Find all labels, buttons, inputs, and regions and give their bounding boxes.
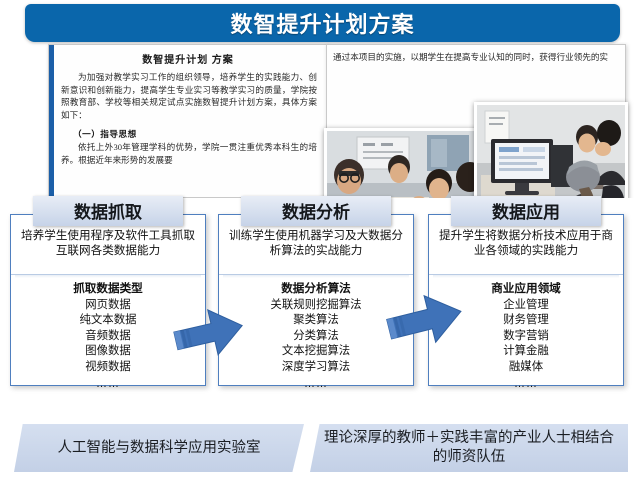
list-item: 音频数据 bbox=[17, 329, 199, 344]
list-item: 深度学习算法 bbox=[225, 360, 407, 375]
pillar-tab-label[interactable]: 数据分析 bbox=[241, 196, 391, 226]
pillar-separator bbox=[15, 275, 201, 278]
list-item: 文本挖掘算法 bbox=[225, 344, 407, 359]
slide-title-banner: 数智提升计划方案 bbox=[25, 4, 620, 42]
list-item: 关联规则挖掘算法 bbox=[225, 298, 407, 313]
page-title: 数智提升计划方案 bbox=[230, 7, 414, 39]
footer-banner-faculty-label: 理论深厚的教师＋实践丰富的产业人士相结合的师资队伍 bbox=[310, 429, 628, 467]
pillar-column-data-analysis[interactable]: 训练学生使用机器学习及大数据分析算法的实战能力 数据分析算法 关联规则挖掘算法 … bbox=[218, 214, 414, 386]
list-item: 视频数据 bbox=[17, 360, 199, 375]
document-page-left: 数智提升计划 方案 为加强对教学实习工作的组织领导，培养学生的实践能力、创新意识… bbox=[48, 44, 328, 198]
pillar-list-heading: 抓取数据类型 bbox=[17, 281, 199, 297]
flow-arrow-1-icon bbox=[173, 302, 247, 369]
flow-arrow-2-icon bbox=[386, 288, 466, 357]
document-screenshot-area: 数智提升计划 方案 为加强对教学实习工作的组织领导，培养学生的实践能力、创新意识… bbox=[0, 42, 636, 198]
document-heading: 数智提升计划 方案 bbox=[49, 51, 327, 66]
list-item: 融媒体 bbox=[435, 360, 617, 375]
list-item: 纯文本数据 bbox=[17, 313, 199, 328]
arrow-right-icon bbox=[173, 302, 247, 364]
pillar-separator bbox=[433, 275, 619, 278]
document-right-paragraph: 通过本项目的实施，以期学生在提高专业认知的同时，获得行业领先的实 bbox=[333, 50, 613, 65]
meeting-photo bbox=[324, 128, 492, 198]
arrow-right-icon bbox=[386, 288, 466, 352]
computer-lab-photo-image bbox=[477, 105, 625, 198]
pillar-tab-label[interactable]: 数据应用 bbox=[451, 196, 601, 226]
document-left-accent-bar bbox=[49, 45, 54, 197]
pillar-ellipsis: …… bbox=[17, 376, 199, 392]
document-paragraph-2: 依托上外30年管理学科的优势，学院一贯注重优秀本科生的培养。根据近年来形势的发展… bbox=[61, 141, 317, 166]
meeting-photo-image bbox=[327, 131, 489, 198]
pillar-ellipsis: …… bbox=[435, 376, 617, 392]
list-item: 图像数据 bbox=[17, 344, 199, 359]
slide-canvas: 数智提升计划方案 数智提升计划 方案 为加强对教学实习工作的组织领导，培养学生的… bbox=[0, 0, 636, 484]
list-item: 聚类算法 bbox=[225, 313, 407, 328]
pillar-tab-label[interactable]: 数据抓取 bbox=[33, 196, 183, 226]
pillar-list-heading: 数据分析算法 bbox=[225, 281, 407, 297]
footer-banner-lab[interactable]: 人工智能与数据科学应用实验室 bbox=[14, 424, 304, 472]
list-item: 分类算法 bbox=[225, 329, 407, 344]
footer-banner-faculty[interactable]: 理论深厚的教师＋实践丰富的产业人士相结合的师资队伍 bbox=[310, 424, 628, 472]
pillar-separator bbox=[223, 275, 409, 278]
pillar-body: 训练学生使用机器学习及大数据分析算法的实战能力 数据分析算法 关联规则挖掘算法 … bbox=[218, 214, 414, 386]
computer-lab-photo bbox=[474, 102, 628, 198]
pillar-ellipsis: …… bbox=[225, 376, 407, 392]
document-subheading: （一）指导思想 bbox=[73, 128, 327, 140]
pillar-list: 数据分析算法 关联规则挖掘算法 聚类算法 分类算法 文本挖掘算法 深度学习算法 … bbox=[219, 279, 413, 394]
document-paragraph: 为加强对教学实习工作的组织领导，培养学生的实践能力、创新意识和创新能力，提高学生… bbox=[61, 71, 317, 121]
footer-banner-lab-label: 人工智能与数据科学应用实验室 bbox=[44, 439, 275, 458]
list-item: 网页数据 bbox=[17, 298, 199, 313]
